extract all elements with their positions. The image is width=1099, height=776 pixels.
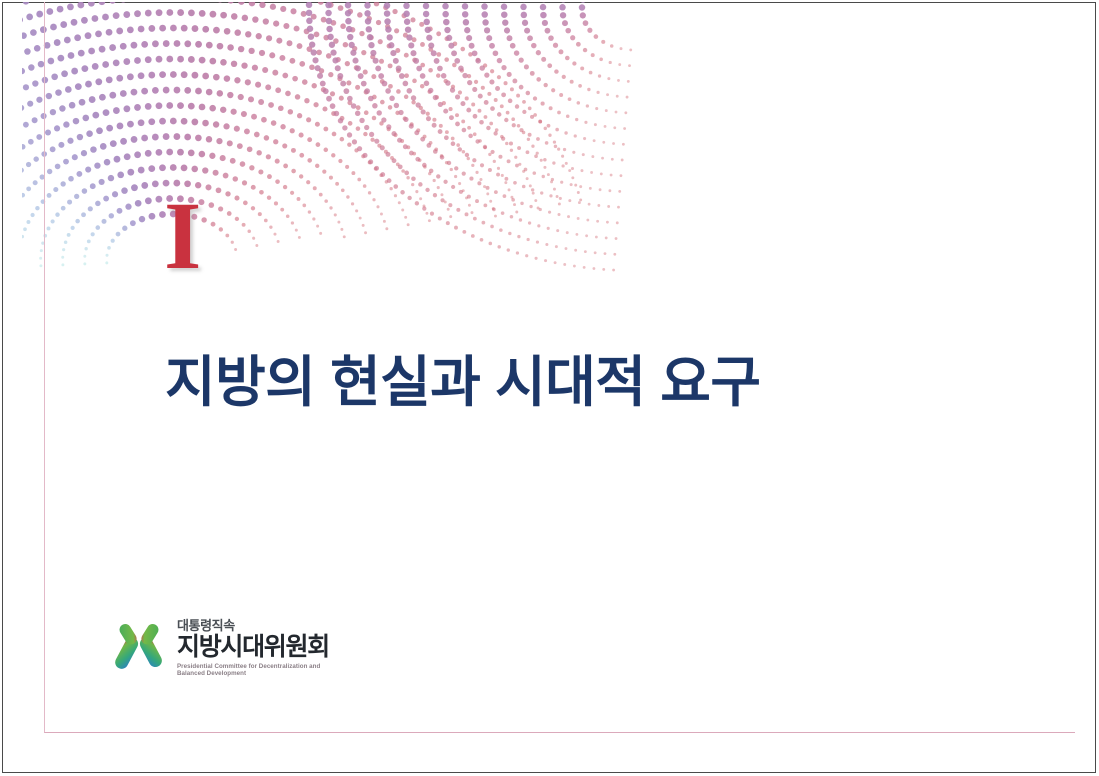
presentation-slide: I 지방의 현실과 시대적 요구 (22, 2, 1075, 733)
pinwheel-emblem (110, 618, 168, 676)
organization-logo: 대통령직속 지방시대위원회 Presidential Committee for… (110, 616, 337, 678)
chapter-numeral: I (164, 188, 201, 284)
slide-title: 지방의 현실과 시대적 요구 (165, 349, 760, 415)
org-name-prefix: 대통령직속 (177, 618, 337, 633)
org-name-main: 지방시대위원회 (177, 633, 337, 661)
slide-screenshot: I 지방의 현실과 시대적 요구 (0, 0, 1099, 776)
org-name-english: Presidential Committee for Decentralizat… (177, 663, 337, 678)
dotted-arc-artwork (22, 2, 782, 302)
organization-wordmark: 대통령직속 지방시대위원회 Presidential Committee for… (177, 616, 337, 678)
